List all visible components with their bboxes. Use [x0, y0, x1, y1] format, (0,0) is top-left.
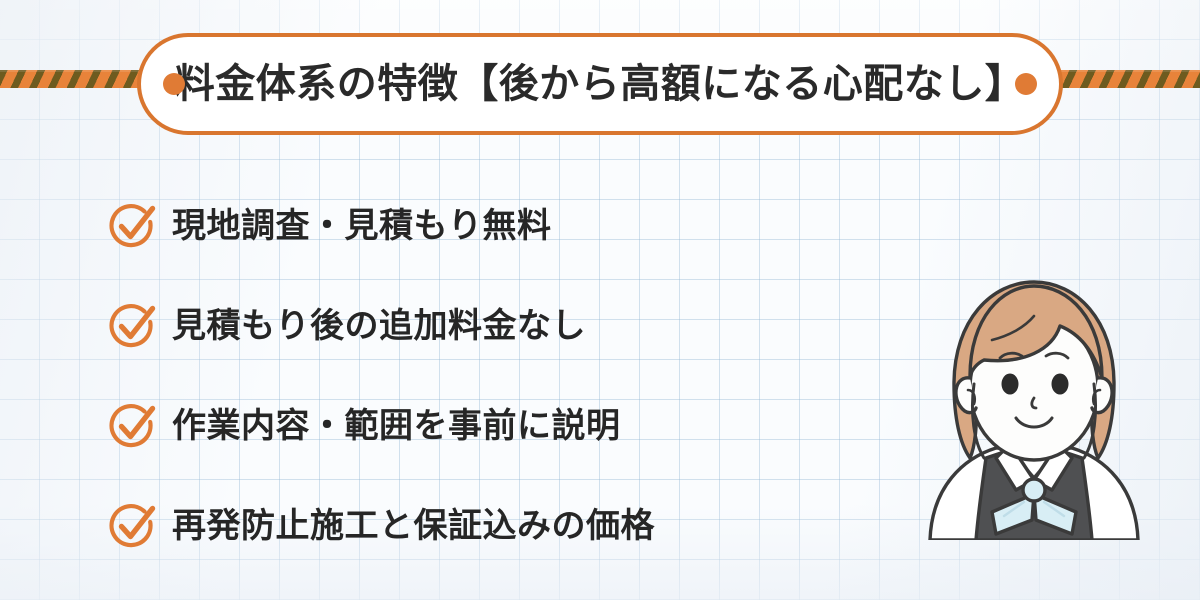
list-item-label: 現地調査・見積もり無料: [172, 209, 552, 243]
check-circle-icon: [106, 200, 158, 252]
title-banner: 料金体系の特徴【後から高額になる心配なし】: [137, 33, 1063, 135]
feature-list: 現地調査・見積もり無料 見積もり後の追加料金なし 作業内容・範囲を事前に説明 再…: [106, 176, 866, 576]
list-item: 再発防止施工と保証込みの価格: [106, 476, 866, 576]
bullet-dot-left-icon: [163, 73, 185, 95]
list-item: 作業内容・範囲を事前に説明: [106, 376, 866, 476]
check-circle-icon: [106, 300, 158, 352]
list-item-label: 再発防止施工と保証込みの価格: [172, 509, 655, 543]
list-item: 現地調査・見積もり無料: [106, 176, 866, 276]
list-item-label: 作業内容・範囲を事前に説明: [172, 409, 621, 443]
check-circle-icon: [106, 400, 158, 452]
list-item-label: 見積もり後の追加料金なし: [172, 309, 586, 343]
check-circle-icon: [106, 500, 158, 552]
page-title: 料金体系の特徴【後から高額になる心配なし】: [117, 64, 1084, 104]
bullet-dot-right-icon: [1015, 73, 1037, 95]
slide-canvas: 料金体系の特徴【後から高額になる心配なし】 現地調査・見積もり無料 見積もり後の…: [0, 0, 1200, 600]
female-office-worker-illustration: [912, 272, 1156, 540]
list-item: 見積もり後の追加料金なし: [106, 276, 866, 376]
